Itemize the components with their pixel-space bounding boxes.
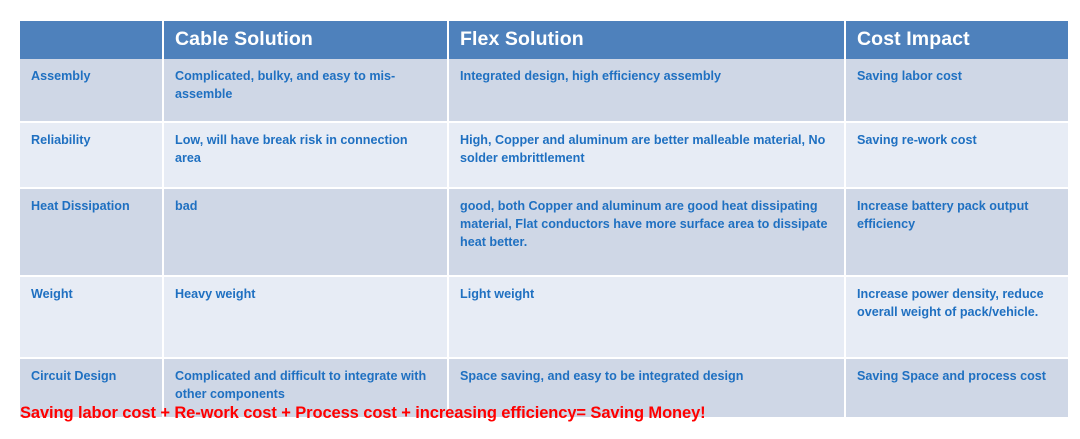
- cell-cable-solution: Heavy weight: [163, 276, 448, 358]
- cell-cable-solution: Low, will have break risk in connection …: [163, 122, 448, 188]
- summary-statement: Saving labor cost + Re-work cost + Proce…: [20, 404, 1060, 423]
- cell-flex-solution: good, both Copper and aluminum are good …: [448, 188, 845, 276]
- table-header-row: Cable Solution Flex Solution Cost Impact: [20, 21, 1068, 59]
- cell-cost-impact: Increase battery pack output efficiency: [845, 188, 1068, 276]
- cell-cable-solution: bad: [163, 188, 448, 276]
- table-row: Weight Heavy weight Light weight Increas…: [20, 276, 1068, 358]
- table-row: Heat Dissipation bad good, both Copper a…: [20, 188, 1068, 276]
- cell-attribute: Weight: [20, 276, 163, 358]
- cell-attribute: Reliability: [20, 122, 163, 188]
- cell-attribute: Heat Dissipation: [20, 188, 163, 276]
- cell-cost-impact: Saving re-work cost: [845, 122, 1068, 188]
- table-row: Reliability Low, will have break risk in…: [20, 122, 1068, 188]
- cell-flex-solution: Integrated design, high efficiency assem…: [448, 59, 845, 122]
- header-cell-cable-solution: Cable Solution: [163, 21, 448, 59]
- table-header: Cable Solution Flex Solution Cost Impact: [20, 21, 1068, 59]
- slide-canvas: Cable Solution Flex Solution Cost Impact…: [0, 0, 1080, 439]
- cell-cost-impact: Saving labor cost: [845, 59, 1068, 122]
- header-cell-flex-solution: Flex Solution: [448, 21, 845, 59]
- cell-flex-solution: Light weight: [448, 276, 845, 358]
- cell-attribute: Assembly: [20, 59, 163, 122]
- cell-flex-solution: High, Copper and aluminum are better mal…: [448, 122, 845, 188]
- cell-cost-impact: Increase power density, reduce overall w…: [845, 276, 1068, 358]
- table-row: Assembly Complicated, bulky, and easy to…: [20, 59, 1068, 122]
- solution-comparison-table: Cable Solution Flex Solution Cost Impact…: [20, 21, 1068, 419]
- header-cell-cost-impact: Cost Impact: [845, 21, 1068, 59]
- cell-cable-solution: Complicated, bulky, and easy to mis-asse…: [163, 59, 448, 122]
- table-body: Assembly Complicated, bulky, and easy to…: [20, 59, 1068, 418]
- header-cell-attribute: [20, 21, 163, 59]
